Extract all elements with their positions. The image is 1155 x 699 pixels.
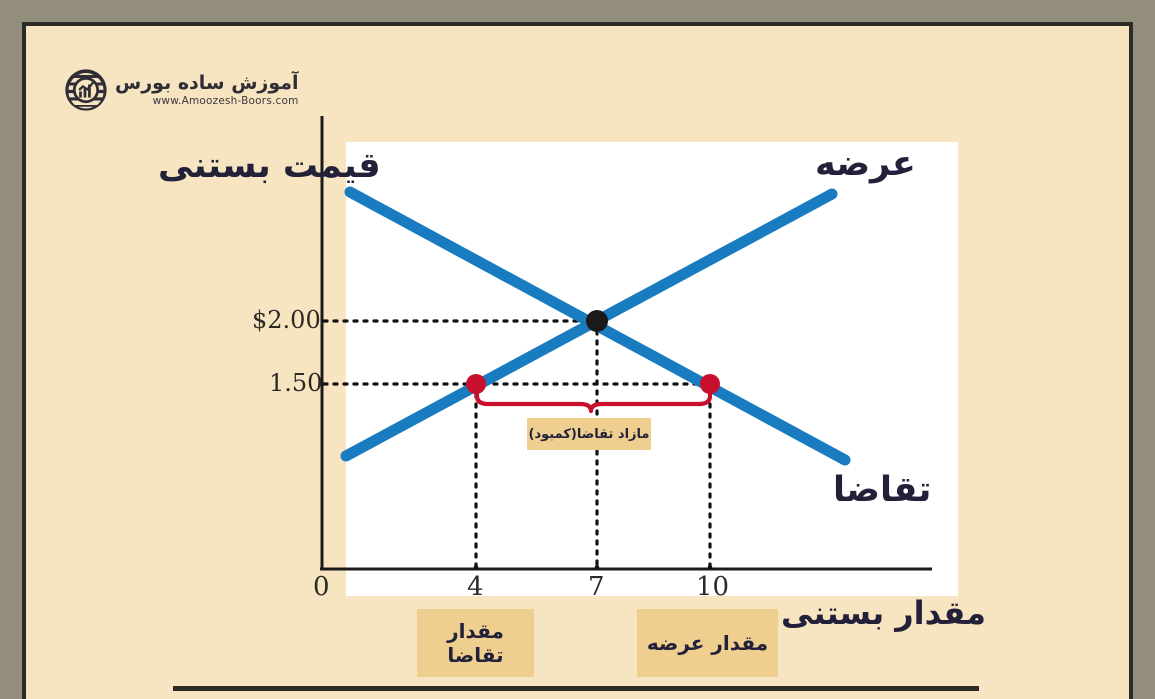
callout-quantity-demanded: مقدار تقاضا bbox=[417, 609, 534, 677]
brand-logo: آموزش ساده بورس www.Amoozesh-Boors.com bbox=[64, 67, 294, 113]
xtick-label-4: 4 bbox=[467, 572, 484, 602]
xtick-label-0: 0 bbox=[313, 572, 330, 602]
supply-curve-label: عرضه bbox=[815, 144, 916, 184]
callout-shortage: مازاد تقاضا(کمبود) bbox=[527, 418, 651, 450]
globe-chart-icon bbox=[64, 68, 108, 112]
ytick-label-200: $2.00 bbox=[252, 306, 321, 334]
xtick-label-10: 10 bbox=[696, 572, 729, 602]
xtick-label-7: 7 bbox=[588, 572, 605, 602]
bottom-rule bbox=[173, 686, 979, 691]
chart-plot-area bbox=[346, 142, 958, 596]
logo-url: www.Amoozesh-Boors.com bbox=[153, 96, 299, 107]
logo-brand-name: آموزش ساده بورس bbox=[115, 74, 299, 93]
logo-text: آموزش ساده بورس www.Amoozesh-Boors.com bbox=[115, 74, 299, 107]
ytick-label-150: 1.50 bbox=[269, 369, 322, 397]
demand-curve-label: تقاضا bbox=[833, 470, 931, 510]
callout-quantity-supplied: مقدار عرضه bbox=[637, 609, 778, 677]
y-axis-title: قیمت بستنی bbox=[158, 146, 381, 186]
x-axis-title: مقدار بستنی bbox=[781, 594, 986, 632]
